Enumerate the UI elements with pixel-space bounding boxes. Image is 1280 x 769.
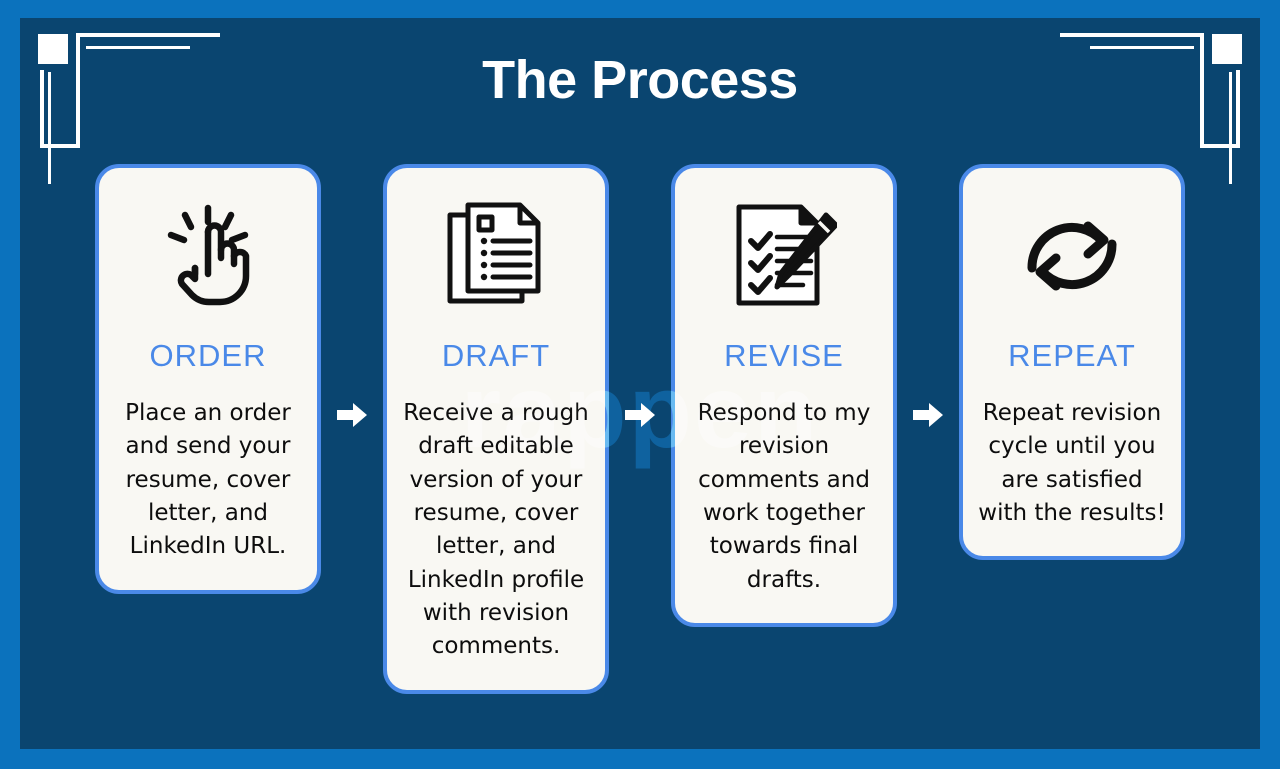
ornament-line	[1200, 144, 1240, 148]
arrow-right-icon	[609, 164, 671, 428]
stacked-documents-icon	[444, 198, 548, 314]
process-step-card-revise[interactable]: REVISE Respond to my revision comments a…	[671, 164, 897, 627]
ornament-line	[86, 46, 190, 49]
page-title: The Process	[20, 52, 1260, 109]
arrow-right-icon	[897, 164, 959, 428]
checklist-pencil-icon	[731, 198, 837, 314]
process-step-card-repeat[interactable]: REPEAT Repeat revision cycle until you a…	[959, 164, 1185, 560]
process-step-card-draft[interactable]: DRAFT Receive a rough draft editable ver…	[383, 164, 609, 694]
pointing-hand-click-icon	[160, 198, 256, 314]
process-steps-row: ORDER Place an order and send your resum…	[80, 164, 1200, 684]
process-step-label: REVISE	[724, 340, 844, 371]
circular-refresh-arrows-icon	[1018, 198, 1126, 314]
process-step-label: REPEAT	[1008, 340, 1136, 371]
process-step-body: Receive a rough draft editable version o…	[401, 397, 591, 664]
ornament-line	[1090, 46, 1194, 49]
ornament-line	[40, 144, 80, 148]
process-step-body: Respond to my revision comments and work…	[689, 397, 879, 597]
process-step-label: DRAFT	[442, 340, 550, 371]
process-step-card-order[interactable]: ORDER Place an order and send your resum…	[95, 164, 321, 594]
process-step-label: ORDER	[150, 340, 267, 371]
slide: The Process rappen	[0, 0, 1280, 769]
slide-stage: The Process rappen	[20, 18, 1260, 749]
arrow-right-icon	[321, 164, 383, 428]
ornament-line	[76, 33, 220, 37]
ornament-line	[1060, 33, 1204, 37]
process-step-body: Place an order and send your resume, cov…	[113, 397, 303, 564]
process-step-body: Repeat revision cycle until you are sati…	[977, 397, 1167, 530]
